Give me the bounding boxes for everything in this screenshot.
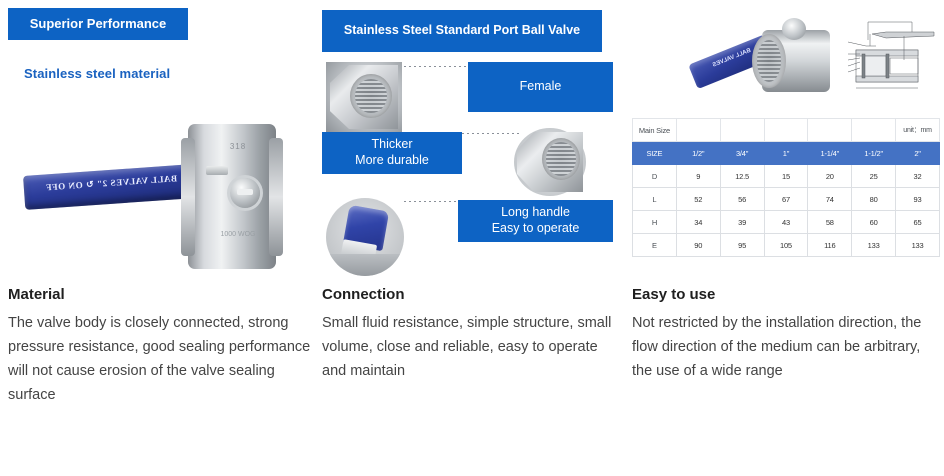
handle-base — [328, 254, 402, 276]
nut-thread-detail — [355, 79, 387, 113]
product-feature-page: Superior Performance Stainless steel mat… — [0, 0, 944, 476]
table-cell: 74 — [808, 188, 852, 211]
feature-block-connection: Connection Small fluid resistance, simpl… — [322, 286, 612, 383]
valve-handle-text: BALL VALVES 2" ↻ ON OFF — [34, 172, 189, 194]
table-cell: 9 — [676, 165, 720, 188]
leader-line-female — [404, 66, 468, 67]
long-handle-line1: Long handle — [501, 205, 570, 219]
long-handle-badge: Long handle Easy to operate — [458, 200, 613, 242]
table-cell: 58 — [808, 211, 852, 234]
female-badge: Female — [468, 62, 613, 112]
superior-performance-label: Superior Performance — [30, 16, 167, 32]
table-cell: 93 — [896, 188, 940, 211]
main-size-label: Main Size — [633, 119, 677, 142]
thicker-badge: Thicker More durable — [322, 132, 462, 174]
size-cell: 1-1/4" — [808, 142, 852, 165]
table-cell: 32 — [896, 165, 940, 188]
thicker-label: Thicker More durable — [355, 137, 429, 168]
table-cell: 20 — [808, 165, 852, 188]
valve-cross-section-svg — [846, 2, 942, 114]
unit-label: unit：mm — [896, 119, 940, 142]
table-cell: 65 — [896, 211, 940, 234]
feature-body: Small fluid resistance, simple structure… — [322, 311, 612, 383]
female-label: Female — [520, 79, 562, 95]
technical-drawing — [846, 2, 942, 114]
table-cell: 67 — [764, 188, 808, 211]
table-cell: 116 — [808, 234, 852, 257]
thicker-line2: More durable — [355, 153, 429, 167]
long-handle-label: Long handle Easy to operate — [492, 205, 580, 236]
feature-block-material: Material The valve body is closely conne… — [8, 286, 313, 407]
feature-title: Connection — [322, 286, 612, 303]
long-handle-line2: Easy to operate — [492, 221, 580, 235]
feature-block-easy-to-use: Easy to use Not restricted by the instal… — [632, 286, 922, 383]
valve-stop-tab — [206, 166, 228, 175]
header-blank-3 — [764, 119, 808, 142]
product-title-badge: Stainless Steel Standard Port Ball Valve — [322, 10, 602, 52]
table-cell: 90 — [676, 234, 720, 257]
valve-stem-nut — [782, 18, 806, 40]
size-cell: 1" — [764, 142, 808, 165]
valve-body-marking-top: 318 — [218, 138, 258, 156]
table-size-row: SIZE 1/2" 3/4" 1" 1-1/4" 1-1/2" 2" — [633, 142, 940, 165]
valve-stem-nut — [230, 178, 260, 208]
size-cell: 2" — [896, 142, 940, 165]
table-cell: 25 — [852, 165, 896, 188]
leader-line-long-handle — [404, 201, 460, 202]
header-blank-1 — [676, 119, 720, 142]
table-cell: 34 — [676, 211, 720, 234]
female-thread-photo — [326, 62, 402, 132]
row-label: E — [633, 234, 677, 257]
table-cell: 105 — [764, 234, 808, 257]
table-cell: 52 — [676, 188, 720, 211]
table-row: E 90 95 105 116 133 133 — [633, 234, 940, 257]
handle-grip-photo — [326, 198, 404, 276]
ball-valve-photo-right: BALL VALVES — [690, 4, 838, 114]
size-cell: 3/4" — [720, 142, 764, 165]
stainless-steel-material-label: Stainless steel material — [24, 66, 170, 81]
table-body: Main Size unit：mm SIZE 1/2" 3/4" 1" 1-1/… — [633, 119, 940, 257]
thicker-wall-photo — [514, 128, 586, 196]
feature-title: Easy to use — [632, 286, 922, 303]
table-header-row: Main Size unit：mm — [633, 119, 940, 142]
size-row-label: SIZE — [633, 142, 677, 165]
table-cell: 133 — [852, 234, 896, 257]
table-cell: 12.5 — [720, 165, 764, 188]
thicker-line1: Thicker — [372, 137, 413, 151]
table-cell: 60 — [852, 211, 896, 234]
header-blank-4 — [808, 119, 852, 142]
right-column: BALL VALVES — [628, 0, 944, 476]
main-size-table: Main Size unit：mm SIZE 1/2" 3/4" 1" 1-1/… — [632, 118, 940, 257]
table-cell: 15 — [764, 165, 808, 188]
product-title-label: Stainless Steel Standard Port Ball Valve — [344, 23, 580, 39]
table-cell: 43 — [764, 211, 808, 234]
table-row: D 9 12.5 15 20 25 32 — [633, 165, 940, 188]
feature-body: Not restricted by the installation direc… — [632, 311, 922, 383]
table-cell: 133 — [896, 234, 940, 257]
valve-inlet-bore — [752, 34, 786, 88]
ball-valve-photo-left: BALL VALVES 2" ↻ ON OFF 318 1000 WOG — [18, 118, 318, 283]
table-cell: 95 — [720, 234, 764, 257]
header-blank-5 — [852, 119, 896, 142]
row-label: L — [633, 188, 677, 211]
header-blank-2 — [720, 119, 764, 142]
table-row: H 34 39 43 58 60 65 — [633, 211, 940, 234]
superior-performance-badge: Superior Performance — [8, 8, 188, 40]
size-cell: 1-1/2" — [852, 142, 896, 165]
nut-thread-detail — [546, 142, 576, 176]
table-cell: 56 — [720, 188, 764, 211]
table-cell: 80 — [852, 188, 896, 211]
table-row: L 52 56 67 74 80 93 — [633, 188, 940, 211]
valve-handle: BALL VALVES 2" ↻ ON OFF — [23, 164, 195, 210]
table-cell: 39 — [720, 211, 764, 234]
feature-title: Material — [8, 286, 313, 303]
row-label: H — [633, 211, 677, 234]
row-label: D — [633, 165, 677, 188]
size-cell: 1/2" — [676, 142, 720, 165]
valve-body-marking-bottom: 1000 WOG — [216, 230, 260, 252]
feature-body: The valve body is closely connected, str… — [8, 311, 313, 407]
leader-line-thicker — [462, 133, 522, 134]
middle-column: Stainless Steel Standard Port Ball Valve… — [318, 0, 628, 476]
